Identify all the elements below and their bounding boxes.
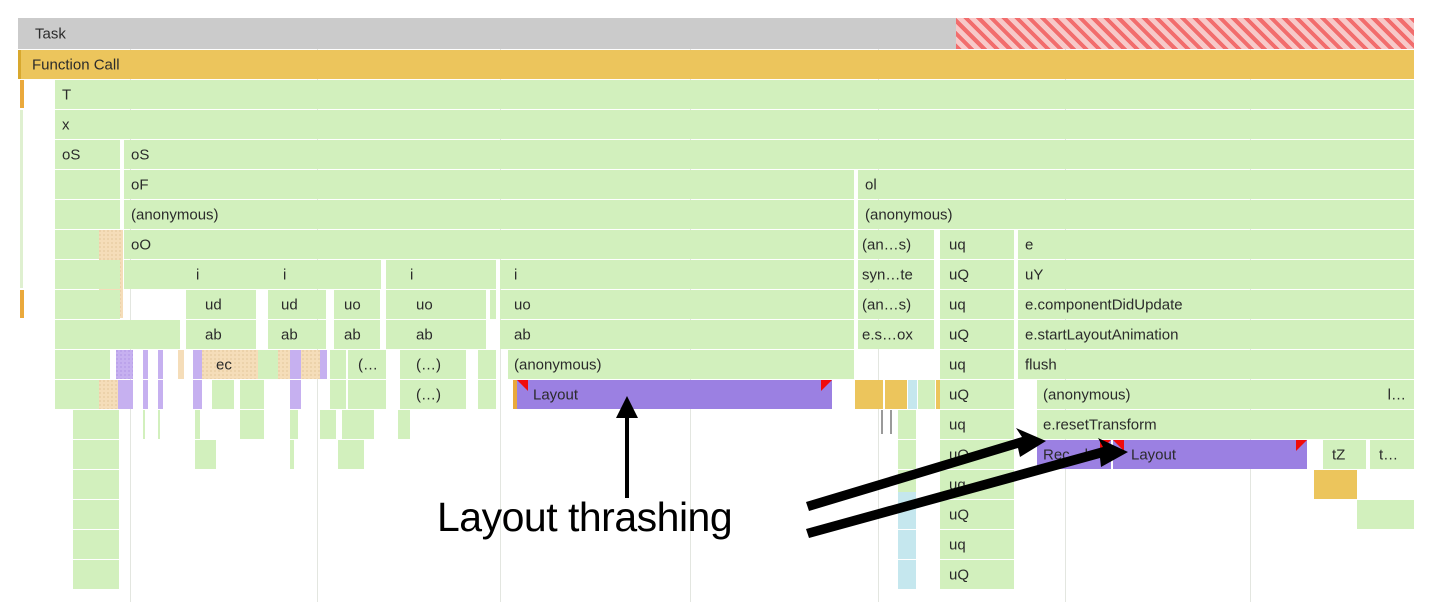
bar-lav-11d[interactable] — [193, 350, 202, 379]
bar-uQ-5[interactable]: uQ — [940, 560, 1014, 589]
bar-ab-5[interactable]: ab — [500, 320, 854, 349]
bar-uQ-5-label: uQ — [949, 567, 969, 582]
bar-i-4[interactable]: i — [500, 260, 854, 289]
bar-green-12d[interactable] — [330, 380, 346, 409]
bar-anonymous-mid[interactable]: (anonymous) — [508, 350, 854, 379]
bar-l-ellipsis-label: l… — [1388, 387, 1406, 402]
warning-triangle-icon — [1296, 440, 1307, 451]
bar-green-14e[interactable] — [290, 440, 294, 469]
bar-uQ-1-label: uQ — [949, 267, 969, 282]
bar-ec[interactable]: ec — [202, 350, 258, 379]
bar-i-2-label: i — [283, 267, 286, 282]
bar-uQ-3-label: uQ — [949, 387, 969, 402]
bar-oS-b[interactable]: oS — [124, 140, 1414, 169]
bar-oF-label: oF — [131, 177, 149, 192]
bar-ab-2-label: ab — [281, 327, 298, 342]
bar-green-13h[interactable] — [342, 410, 374, 439]
bar-i-1-label: i — [196, 267, 199, 282]
bar-peach-11a[interactable] — [178, 350, 184, 379]
bar-green-14f[interactable] — [898, 440, 916, 469]
bar-uq-1[interactable]: uq — [940, 230, 1014, 259]
bar-oO[interactable]: oO — [124, 230, 854, 259]
bar-uO-1[interactable]: uO — [940, 440, 1014, 469]
bar-blank-11a[interactable] — [55, 350, 110, 379]
bar-cyan-18a[interactable] — [898, 560, 916, 589]
bar-green-16b[interactable] — [1357, 500, 1414, 529]
bar-cyan-17a[interactable] — [898, 530, 916, 559]
bar-green-14c[interactable] — [198, 440, 216, 469]
arrow-to-layout-1 — [616, 396, 638, 498]
bar-anonymous-right-label: (anonymous) — [865, 207, 953, 222]
bar-blank-5[interactable] — [55, 170, 120, 199]
bar-peach-11b[interactable] — [278, 350, 326, 379]
bar-green-12a[interactable] — [55, 380, 101, 409]
bar-lav-12e[interactable] — [290, 380, 301, 409]
thin-tick-b — [890, 410, 892, 434]
bar-blank-9[interactable] — [55, 290, 120, 319]
bar-green-12f[interactable] — [478, 380, 496, 409]
bar-ellipsis-1[interactable]: (… — [348, 350, 386, 379]
bar-uo-3-label: uo — [514, 297, 531, 312]
bar-orange-12a[interactable] — [855, 380, 883, 409]
bar-anonymous-left[interactable]: (anonymous) — [124, 200, 854, 229]
bar-uO-1-label: uO — [949, 447, 969, 462]
bar-ellipsis-1-label: (… — [358, 357, 378, 372]
bar-lav-12b[interactable] — [143, 380, 148, 409]
bar-ol-label: ol — [865, 177, 877, 192]
bar-sliver-9[interactable] — [490, 290, 496, 319]
bar-green-14d[interactable] — [338, 440, 364, 469]
bar-green-12c[interactable] — [240, 380, 264, 409]
bar-green-11c[interactable] — [478, 350, 496, 379]
layout-bar-1[interactable]: Layout — [517, 380, 832, 409]
function-call-bar[interactable]: Function Call — [18, 50, 1414, 79]
bar-lav-11e[interactable] — [290, 350, 301, 379]
bar-ab-5-label: ab — [514, 327, 531, 342]
bar-uq-3-label: uq — [949, 357, 966, 372]
layout-bar-recalc[interactable]: Rec…le — [1037, 440, 1111, 469]
bar-green-12g[interactable] — [918, 380, 935, 409]
bar-oS-b-label: oS — [131, 147, 149, 162]
bar-green-13b[interactable] — [143, 410, 145, 439]
bar-ab-4[interactable]: ab — [386, 320, 486, 349]
bar-ec-label: ec — [216, 357, 232, 372]
bar-green-18a[interactable] — [73, 560, 119, 589]
bar-uY-label: uY — [1025, 267, 1043, 282]
bar-anonymous-right2-label: (anonymous) — [1043, 387, 1131, 402]
bar-orange-15a[interactable] — [1314, 470, 1357, 499]
function-call-bar-label: Function Call — [32, 57, 120, 72]
bar-ab-2[interactable]: ab — [268, 320, 326, 349]
bar-oS-a-label: oS — [62, 147, 80, 162]
bar-i-3[interactable]: i — [386, 260, 496, 289]
bar-anonymous-left-label: (anonymous) — [131, 207, 219, 222]
bar-lav-11f[interactable] — [320, 350, 327, 379]
bar-green-13i[interactable] — [398, 410, 410, 439]
bar-green-13c[interactable] — [158, 410, 160, 439]
bar-tZ-label: tZ — [1332, 447, 1345, 462]
bar-an-s-2-label: (an…s) — [862, 297, 911, 312]
bar-green-13f[interactable] — [290, 410, 298, 439]
bar-uo-1-label: uo — [344, 297, 361, 312]
bar-uQ-4-label: uQ — [949, 507, 969, 522]
bar-resetTransform[interactable]: e.resetTransform — [1037, 410, 1414, 439]
bar-e-label: e — [1025, 237, 1033, 252]
bar-i-4-label: i — [514, 267, 517, 282]
bar-uq-6-label: uq — [949, 537, 966, 552]
bar-green-13j[interactable] — [898, 410, 916, 439]
bar-green-13a[interactable] — [73, 410, 119, 439]
bar-green-16a[interactable] — [73, 500, 119, 529]
bar-blank-10[interactable] — [55, 320, 180, 349]
bar-ellipsis-2[interactable]: (…) — [400, 350, 466, 379]
bar-anonymous-right2[interactable]: (anonymous) l… — [1037, 380, 1414, 409]
bar-ol[interactable]: ol — [858, 170, 1414, 199]
bar-ud-1[interactable]: ud — [186, 290, 256, 319]
bar-ud-2[interactable]: ud — [268, 290, 326, 319]
bar-green-12e[interactable] — [348, 380, 386, 409]
bar-uq-5-label: uq — [949, 477, 966, 492]
function-call-left-edge — [18, 50, 21, 79]
bar-uQ-2-label: uQ — [949, 327, 969, 342]
bar-e-s-ox[interactable]: e.s…ox — [858, 320, 934, 349]
bar-uo-1[interactable]: uo — [334, 290, 380, 319]
bar-startLayoutAnimation[interactable]: e.startLayoutAnimation — [1018, 320, 1414, 349]
self-marker-c — [20, 110, 23, 288]
bar-cyan-12a[interactable] — [908, 380, 917, 409]
bar-anonymous-mid-label: (anonymous) — [514, 357, 602, 372]
bar-green-11b[interactable] — [330, 350, 346, 379]
bar-ud-2-label: ud — [281, 297, 298, 312]
bar-e[interactable]: e — [1018, 230, 1414, 259]
bar-ab-1[interactable]: ab — [186, 320, 256, 349]
bar-green-13g[interactable] — [320, 410, 336, 439]
self-marker-b — [20, 290, 24, 318]
bar-oO-label: oO — [131, 237, 151, 252]
bar-blank-6[interactable] — [55, 200, 120, 229]
bar-green-13d[interactable] — [195, 410, 200, 439]
bar-T-label: T — [62, 87, 71, 102]
bar-ab-3[interactable]: ab — [334, 320, 380, 349]
bar-an-s-1-label: (an…s) — [862, 237, 911, 252]
bar-blank-8[interactable] — [55, 260, 120, 289]
flame-chart-canvas[interactable]: Task Function Call T x oS oS oF ol (anon… — [0, 0, 1433, 602]
bar-uQ-3[interactable]: uQ — [940, 380, 1014, 409]
bar-uQ-1[interactable]: uQ — [940, 260, 1014, 289]
bar-ellipsis-3[interactable]: (…) — [400, 380, 466, 409]
bar-green-12b[interactable] — [212, 380, 234, 409]
bar-syn-te[interactable]: syn…te — [858, 260, 934, 289]
bar-flush[interactable]: flush — [1018, 350, 1414, 379]
bar-uq-3[interactable]: uq — [940, 350, 1014, 379]
bar-uq-2-label: uq — [949, 297, 966, 312]
self-marker-a — [20, 80, 24, 108]
bar-lav-11a[interactable] — [116, 350, 133, 379]
bar-resetTransform-label: e.resetTransform — [1043, 417, 1157, 432]
bar-componentDidUpdate-label: e.componentDidUpdate — [1025, 297, 1183, 312]
bar-t-ellipsis[interactable]: t… — [1370, 440, 1414, 469]
bar-lav-12d[interactable] — [193, 380, 202, 409]
bar-uY[interactable]: uY — [1018, 260, 1414, 289]
bar-oS-a[interactable]: oS — [55, 140, 120, 169]
layout-bar-2[interactable]: Layout — [1113, 440, 1307, 469]
bar-i-3-label: i — [410, 267, 413, 282]
task-bar-label: Task — [35, 26, 66, 41]
bar-green-15a[interactable] — [73, 470, 119, 499]
bar-green-17a[interactable] — [73, 530, 119, 559]
bar-uQ-2[interactable]: uQ — [940, 320, 1014, 349]
bar-tZ[interactable]: tZ — [1323, 440, 1366, 469]
layout-bar-1-label: Layout — [533, 387, 578, 402]
bar-uq-1-label: uq — [949, 237, 966, 252]
bar-cyan-16a[interactable] — [898, 500, 916, 529]
bar-oF[interactable]: oF — [124, 170, 854, 199]
warning-triangle-icon — [1113, 440, 1124, 451]
warning-triangle-icon — [821, 380, 832, 391]
bar-uq-5[interactable]: uq — [940, 470, 1014, 499]
layout-thrashing-annotation: Layout thrashing — [437, 494, 732, 541]
bar-e-s-ox-label: e.s…ox — [862, 327, 913, 342]
bar-uo-3[interactable]: uo — [500, 290, 854, 319]
bar-lav-11b[interactable] — [143, 350, 148, 379]
long-task-hatch-overlay — [956, 18, 1414, 49]
bar-ellipsis-2-label: (…) — [416, 357, 441, 372]
bar-an-s-1[interactable]: (an…s) — [858, 230, 934, 259]
bar-componentDidUpdate[interactable]: e.componentDidUpdate — [1018, 290, 1414, 319]
bar-ellipsis-3-label: (…) — [416, 387, 441, 402]
bar-uq-4[interactable]: uq — [940, 410, 1014, 439]
bar-flush-label: flush — [1025, 357, 1057, 372]
layout-bar-recalc-label: Rec…le — [1043, 447, 1096, 462]
bar-x-label: x — [62, 117, 70, 132]
bar-syn-te-label: syn…te — [862, 267, 913, 282]
bar-ab-3-label: ab — [344, 327, 361, 342]
bar-t-ellipsis-label: t… — [1379, 447, 1398, 462]
bar-uo-2[interactable]: uo — [386, 290, 486, 319]
bar-uQ-4[interactable]: uQ — [940, 500, 1014, 529]
bar-lav-12a[interactable] — [118, 380, 133, 409]
bar-x[interactable]: x — [55, 110, 1414, 139]
bar-ud-1-label: ud — [205, 297, 222, 312]
bar-green-13e[interactable] — [240, 410, 264, 439]
warning-triangle-icon — [517, 380, 528, 391]
bar-an-s-2[interactable]: (an…s) — [858, 290, 934, 319]
bar-uq-6[interactable]: uq — [940, 530, 1014, 559]
bar-uq-2[interactable]: uq — [940, 290, 1014, 319]
warning-triangle-icon — [1100, 440, 1111, 451]
bar-i-2[interactable]: i — [255, 260, 381, 289]
bar-ab-1-label: ab — [205, 327, 222, 342]
bar-ab-4-label: ab — [416, 327, 433, 342]
bar-startLayoutAnimation-label: e.startLayoutAnimation — [1025, 327, 1178, 342]
thin-tick-a — [881, 410, 883, 434]
bar-lav-12c[interactable] — [158, 380, 163, 409]
layout-bar-2-label: Layout — [1131, 447, 1176, 462]
bar-uo-2-label: uo — [416, 297, 433, 312]
bar-orange-12b[interactable] — [885, 380, 907, 409]
bar-green-14a[interactable] — [73, 440, 119, 469]
bar-anonymous-right[interactable]: (anonymous) — [858, 200, 1414, 229]
bar-lav-11c[interactable] — [158, 350, 163, 379]
bar-uq-4-label: uq — [949, 417, 966, 432]
bar-T[interactable]: T — [55, 80, 1414, 109]
